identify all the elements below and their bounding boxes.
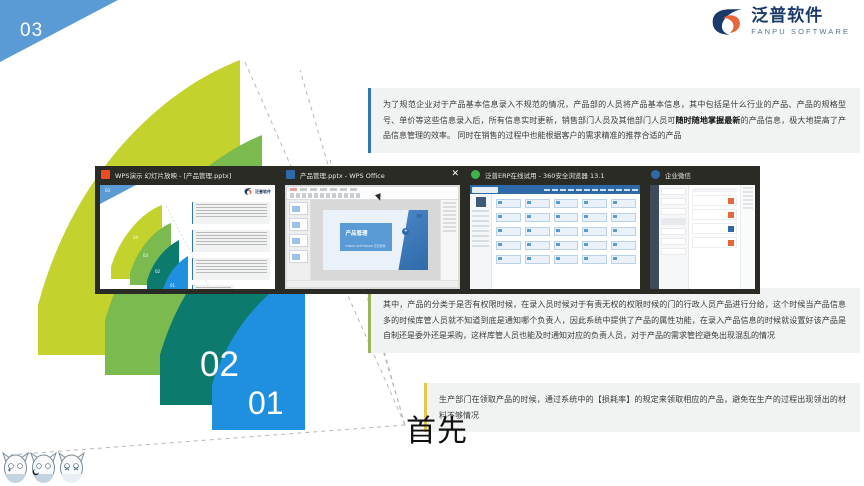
close-icon[interactable]: ✕ xyxy=(447,170,459,179)
mini-sail-label-03: 03 xyxy=(143,253,148,258)
mini-paragraph-3 xyxy=(192,258,270,280)
sail-label-02: 02 xyxy=(200,345,239,385)
mini-brand-name: 泛普软件 xyxy=(255,189,271,195)
ime-composition-text: 首先 xyxy=(406,406,468,450)
section-number: 03 xyxy=(20,20,43,42)
window-thumbnail-1[interactable]: 03 泛普软件 xyxy=(100,185,275,289)
window-switcher-item-1[interactable]: WPS演示 幻灯片放映 - [产品管理.pptx] 03 泛普软件 xyxy=(95,166,280,294)
erp-module-node[interactable] xyxy=(582,227,607,236)
list-item[interactable] xyxy=(661,248,686,255)
erp-module-node[interactable] xyxy=(525,199,550,208)
erp-module-node[interactable] xyxy=(554,255,579,264)
window-title-2: 产品管理.pptx - WPS Office xyxy=(300,170,385,180)
erp-module-node[interactable] xyxy=(611,199,636,208)
cat-icon xyxy=(58,450,85,484)
window-title-bar-1: WPS演示 幻灯片放映 - [产品管理.pptx] xyxy=(95,166,280,183)
erp-module-node[interactable] xyxy=(554,227,579,236)
wecom-side-panel[interactable] xyxy=(740,185,755,289)
list-item[interactable] xyxy=(661,238,686,245)
wps-slide-panel[interactable] xyxy=(287,200,311,280)
avatar xyxy=(476,197,486,207)
file-icon xyxy=(728,212,734,218)
window-thumbnail-4[interactable] xyxy=(650,185,755,289)
sail-label-01: 01 xyxy=(248,385,284,422)
corner-triangle-decoration xyxy=(0,0,118,62)
erp-module-node[interactable] xyxy=(525,241,550,250)
message-card[interactable] xyxy=(692,223,737,234)
window-switcher-item-4[interactable]: 企业微信 xyxy=(645,166,760,294)
window-switcher-overlay[interactable]: WPS演示 幻灯片放映 - [产品管理.pptx] 03 泛普软件 xyxy=(95,166,760,294)
mini-paragraph-2 xyxy=(192,230,270,252)
erp-module-node[interactable] xyxy=(582,213,607,222)
mini-sail-label-04: 04 xyxy=(133,235,138,240)
erp-module-node[interactable] xyxy=(525,213,550,222)
browser-tab[interactable] xyxy=(472,187,498,193)
window-title-1: WPS演示 幻灯片放映 - [产品管理.pptx] xyxy=(115,170,231,180)
mini-paragraph-4 xyxy=(192,285,234,289)
slide-title-card: 产品管理 FANPU SOFTWARE 泛普软件 xyxy=(340,223,393,251)
wps-office-icon xyxy=(286,170,295,179)
mini-sail-label-02: 02 xyxy=(155,269,160,274)
fanpu-logo-icon xyxy=(711,8,745,36)
paragraph-3-text: 生产部门在领取产品的时候，通过系统中的【损耗率】的规定来领取相应的产品，避免在生… xyxy=(439,395,846,420)
erp-module-node[interactable] xyxy=(496,199,521,208)
wps-right-panel[interactable] xyxy=(440,200,458,280)
file-icon xyxy=(728,198,734,204)
cat-icon xyxy=(30,450,57,484)
erp-module-node[interactable] xyxy=(554,199,579,208)
brand-name-cn: 泛普软件 xyxy=(751,8,850,25)
list-item[interactable] xyxy=(661,218,686,225)
slide-canvas: 03 泛普软件 FANPU SOFTWARE 04 03 02 01 xyxy=(0,0,864,486)
window-title-4: 企业微信 xyxy=(665,170,691,180)
window-title-3: 泛普ERP在线试用 - 360安全浏览器 13.1 xyxy=(485,170,604,180)
wecom-chat-list[interactable] xyxy=(659,185,689,289)
list-item[interactable] xyxy=(661,208,686,215)
erp-module-node[interactable] xyxy=(525,227,550,236)
wps-presentation-icon xyxy=(101,170,110,179)
mini-paragraph-1 xyxy=(192,202,270,224)
erp-module-node[interactable] xyxy=(554,213,579,222)
paragraph-block-2: 其中，产品的分类于是否有权限时候，在录入员时候对于有责无权的权限时候的门的行政人… xyxy=(368,288,860,353)
file-icon xyxy=(728,226,734,232)
file-icon xyxy=(728,240,734,246)
mini-section-number: 03 xyxy=(105,188,110,193)
wps-ribbon xyxy=(287,187,458,200)
list-item[interactable] xyxy=(661,198,686,205)
erp-module-node[interactable] xyxy=(611,255,636,264)
slide-thumb[interactable] xyxy=(289,202,308,215)
slide-brand-logo: 泛普 xyxy=(416,214,422,218)
erp-module-node[interactable] xyxy=(611,241,636,250)
window-title-bar-3: 泛普ERP在线试用 - 360安全浏览器 13.1 xyxy=(465,166,645,183)
window-switcher-item-2[interactable]: 产品管理.pptx - WPS Office ✕ xyxy=(280,166,465,294)
erp-module-grid[interactable] xyxy=(492,194,640,289)
cat-icon xyxy=(2,450,29,484)
message-card[interactable] xyxy=(692,195,737,206)
erp-module-node[interactable] xyxy=(611,213,636,222)
list-item[interactable] xyxy=(661,228,686,235)
window-title-bar-2: 产品管理.pptx - WPS Office ✕ xyxy=(280,166,465,183)
erp-module-node[interactable] xyxy=(611,227,636,236)
slide-thumb[interactable] xyxy=(289,250,308,263)
erp-module-node[interactable] xyxy=(496,241,521,250)
cat-stickers-watermark xyxy=(2,450,85,484)
paragraph-1-text: 为了规范企业对于产品基本信息录入不规范的情况，产品部的人员将产品基本信息，其中包… xyxy=(383,100,846,140)
slide-thumb[interactable] xyxy=(289,234,308,247)
erp-module-node[interactable] xyxy=(496,227,521,236)
paragraph-block-1: 为了规范企业对于产品基本信息录入不规范的情况，产品部的人员将产品基本信息，其中包… xyxy=(368,88,860,153)
paragraph-2-text: 其中，产品的分类于是否有权限时候，在录入员时候对于有责无权的权限时候的门的行政人… xyxy=(383,300,846,340)
message-card[interactable] xyxy=(692,237,737,248)
brand-logo: 泛普软件 FANPU SOFTWARE xyxy=(711,8,850,36)
wecom-icon xyxy=(651,170,660,179)
window-thumbnail-2[interactable]: 泛普 产品管理 FANPU SOFTWARE 泛普软件 + xyxy=(285,185,460,289)
wps-status-bar xyxy=(287,280,458,287)
erp-module-node[interactable] xyxy=(525,255,550,264)
window-switcher-item-3[interactable]: 泛普ERP在线试用 - 360安全浏览器 13.1 xyxy=(465,166,645,294)
browser-tab-bar[interactable] xyxy=(470,185,640,194)
wecom-rail[interactable] xyxy=(650,185,659,289)
slide-thumb[interactable] xyxy=(289,218,308,231)
mini-brand-logo: 泛普软件 xyxy=(244,188,271,195)
conversation-header xyxy=(692,188,737,192)
erp-module-node[interactable] xyxy=(554,241,579,250)
window-title-bar-4: 企业微信 xyxy=(645,166,760,183)
mini-sail-label-01: 01 xyxy=(170,283,175,288)
paragraph-block-3: 生产部门在领取产品的时候，通过系统中的【损耗率】的规定来领取相应的产品，避免在生… xyxy=(424,383,860,432)
slide-subtitle-text: FANPU SOFTWARE 泛普软件 xyxy=(346,244,393,248)
slide-title-text: 产品管理 xyxy=(346,229,393,237)
mini-fanpu-logo-icon xyxy=(244,188,253,195)
erp-module-node[interactable] xyxy=(582,241,607,250)
slide-triangle-decoration xyxy=(398,210,428,271)
window-thumbnail-3[interactable] xyxy=(470,185,640,289)
brand-name-en: FANPU SOFTWARE xyxy=(751,28,850,36)
browser-360-icon xyxy=(471,170,480,179)
erp-module-node[interactable] xyxy=(582,255,607,264)
erp-module-node[interactable] xyxy=(582,199,607,208)
wecom-conversation[interactable] xyxy=(689,185,740,289)
erp-module-node[interactable] xyxy=(496,255,521,264)
erp-sidebar[interactable] xyxy=(470,194,492,289)
wps-slide-canvas[interactable]: 泛普 产品管理 FANPU SOFTWARE 泛普软件 + xyxy=(311,200,440,280)
message-card[interactable] xyxy=(692,209,737,220)
list-item[interactable] xyxy=(661,188,686,195)
erp-module-node[interactable] xyxy=(496,213,521,222)
